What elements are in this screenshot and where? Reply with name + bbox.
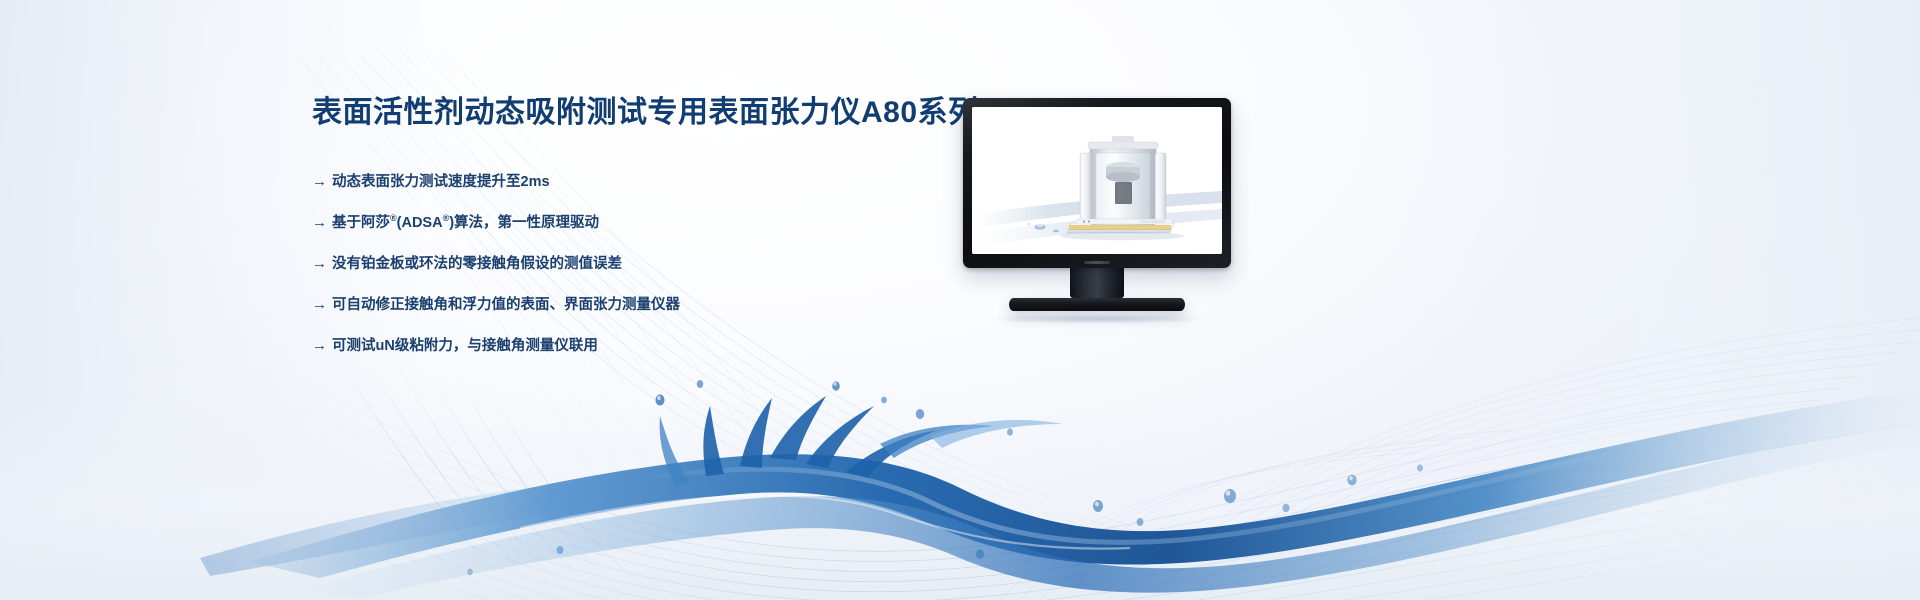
product-monitor bbox=[963, 98, 1231, 324]
list-item: → 基于阿莎®(ADSA®)算法，第一性原理驱动 bbox=[312, 213, 1032, 233]
arrow-icon: → bbox=[312, 254, 332, 274]
monitor-screen bbox=[972, 107, 1222, 254]
list-item: → 没有铂金板或环法的零接触角假设的测值误差 bbox=[312, 254, 1032, 274]
feature-text: 动态表面张力测试速度提升至2ms bbox=[332, 172, 1032, 192]
feature-text-part: )算法，第一性原理驱动 bbox=[449, 215, 599, 231]
page-title: 表面活性剂动态吸附测试专用表面张力仪A80系列 bbox=[312, 92, 1032, 134]
arrow-icon: → bbox=[312, 213, 332, 233]
hero-banner: 表面活性剂动态吸附测试专用表面张力仪A80系列 → 动态表面张力测试速度提升至2… bbox=[0, 0, 1920, 600]
monitor-neck bbox=[1070, 268, 1124, 298]
banner-content: 表面活性剂动态吸附测试专用表面张力仪A80系列 → 动态表面张力测试速度提升至2… bbox=[312, 92, 1032, 356]
feature-text: 可自动修正接触角和浮力值的表面、界面张力测量仪器 bbox=[332, 295, 1032, 315]
list-item: → 可自动修正接触角和浮力值的表面、界面张力测量仪器 bbox=[312, 295, 1032, 315]
registered-mark-icon: ® bbox=[390, 213, 397, 223]
monitor-stand-base bbox=[1009, 298, 1185, 311]
feature-text-part: (ADSA bbox=[397, 215, 443, 231]
feature-list: → 动态表面张力测试速度提升至2ms → 基于阿莎®(ADSA®)算法，第一性原… bbox=[312, 172, 1032, 356]
list-item: → 动态表面张力测试速度提升至2ms bbox=[312, 172, 1032, 192]
feature-text: 没有铂金板或环法的零接触角假设的测值误差 bbox=[332, 254, 1032, 274]
arrow-icon: → bbox=[312, 336, 332, 356]
feature-text-part: 基于阿莎 bbox=[332, 215, 390, 231]
list-item: → 可测试uN级粘附力，与接触角测量仪联用 bbox=[312, 336, 1032, 356]
bottom-gradient-overlay bbox=[0, 400, 1920, 600]
monitor-shadow bbox=[982, 314, 1212, 324]
feature-text: 基于阿莎®(ADSA®)算法，第一性原理驱动 bbox=[332, 213, 1032, 233]
instrument-photo bbox=[972, 107, 1222, 254]
right-gradient-overlay bbox=[1400, 0, 1920, 600]
feature-text: 可测试uN级粘附力，与接触角测量仪联用 bbox=[332, 336, 1032, 356]
monitor-bezel bbox=[963, 98, 1231, 268]
arrow-icon: → bbox=[312, 295, 332, 315]
arrow-icon: → bbox=[312, 172, 332, 192]
water-splash-graphic bbox=[0, 340, 1920, 600]
